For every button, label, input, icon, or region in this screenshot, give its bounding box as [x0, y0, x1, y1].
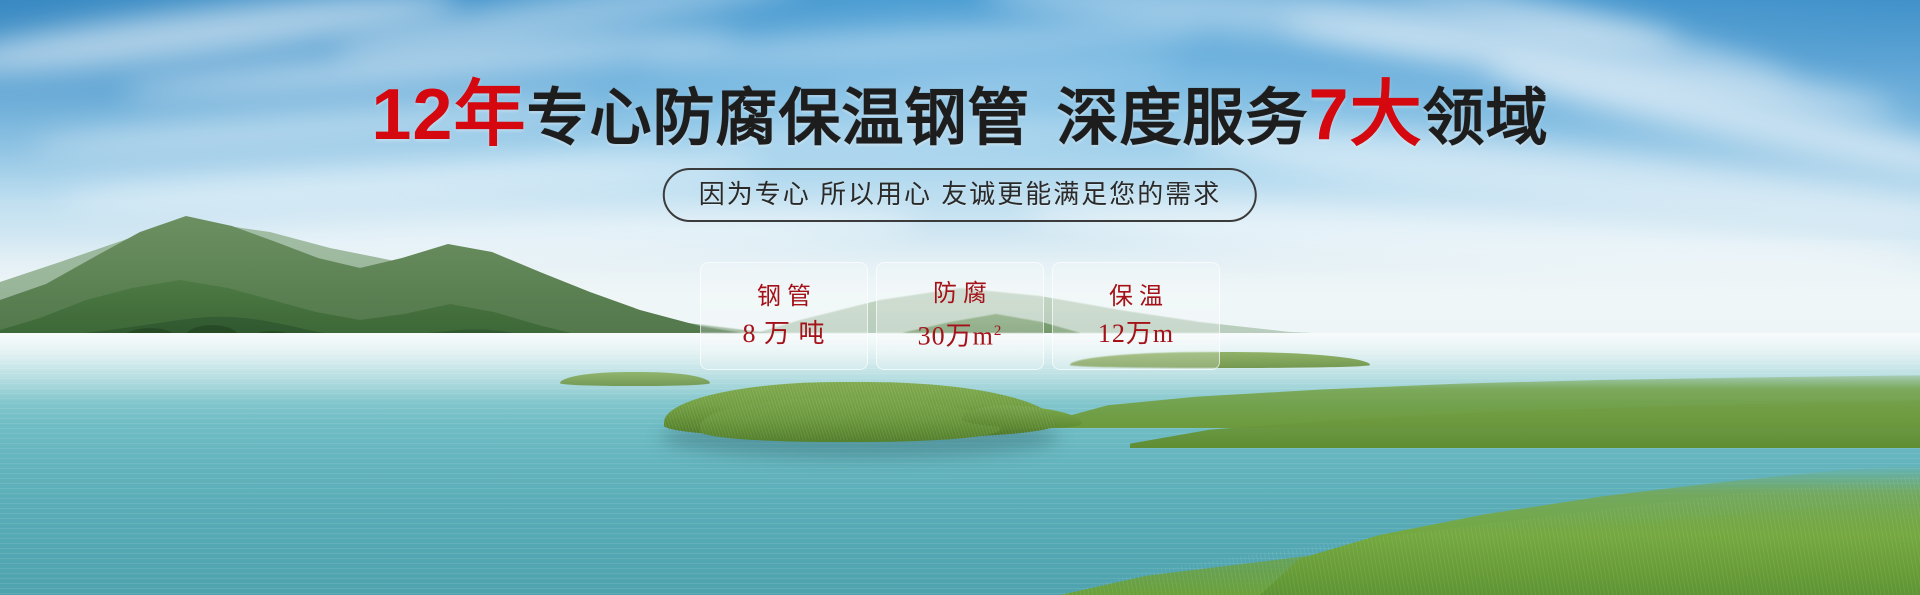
stat-card-value-text: 8 万 吨 — [742, 319, 825, 348]
stat-card-value: 12万m — [1098, 320, 1174, 348]
stat-card-steel-pipe[interactable]: 钢管 8 万 吨 — [700, 262, 868, 370]
subtitle-pill: 因为专心 所以用心 友诚更能满足您的需求 — [663, 168, 1257, 222]
headline-fields-number: 7 — [1309, 75, 1350, 155]
small-islet-left — [560, 372, 710, 386]
headline-main-text: 专心防腐保温钢管 — [527, 84, 1031, 153]
stat-card-anticorrosion[interactable]: 防腐 30万m2 — [876, 262, 1044, 370]
stat-card-value-superscript: 2 — [994, 323, 1003, 339]
headline-years-number: 12 — [371, 75, 453, 155]
stat-card-value-text: 30万m — [918, 322, 994, 351]
stat-card-value-text: 12万m — [1098, 319, 1174, 348]
stat-card-label: 保温 — [1103, 284, 1169, 310]
banner-headline: 12年专心防腐保温钢管深度服务7大领域 — [0, 84, 1920, 150]
stat-card-label: 钢管 — [751, 284, 817, 310]
headline-fields-text: 领域 — [1423, 84, 1549, 153]
stat-card-value: 30万m2 — [918, 317, 1003, 351]
hero-banner: 12年专心防腐保温钢管深度服务7大领域 因为专心 所以用心 友诚更能满足您的需求… — [0, 0, 1920, 595]
stat-card-insulation[interactable]: 保温 12万m — [1052, 262, 1220, 370]
headline-years-unit: 年 — [453, 75, 526, 155]
headline-service-text: 深度服务 — [1057, 84, 1309, 153]
stat-card-label: 防腐 — [927, 281, 993, 307]
stat-card-group: 钢管 8 万 吨 防腐 30万m2 保温 12万m — [700, 262, 1220, 370]
stat-card-value: 8 万 吨 — [742, 320, 825, 348]
headline-fields-unit: 大 — [1350, 75, 1423, 155]
